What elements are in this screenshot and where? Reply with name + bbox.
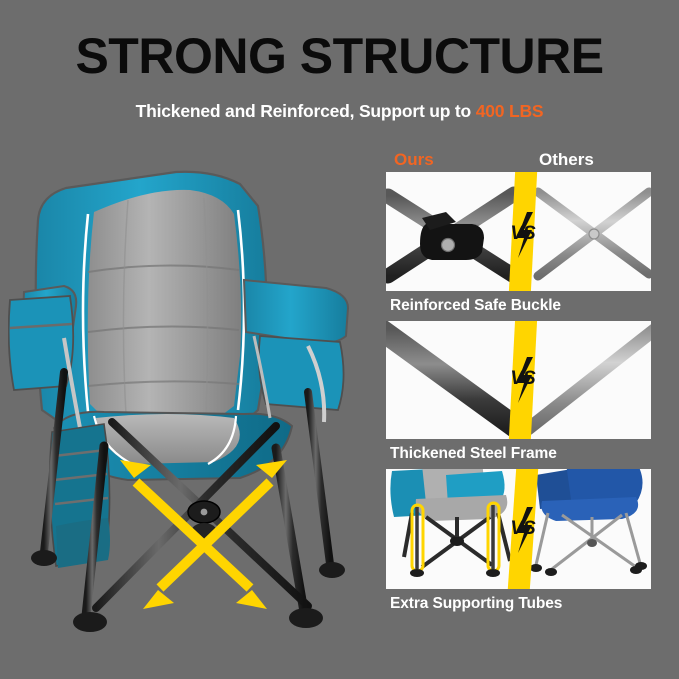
others-foot	[630, 566, 642, 574]
subtitle-highlight: 400 LBS	[476, 101, 544, 121]
panel-caption-tubes: Extra Supporting Tubes	[386, 589, 651, 619]
others-rivet	[589, 229, 599, 239]
arm-side-panel-right	[259, 336, 344, 410]
vs-label: VS	[510, 223, 536, 244]
ours-foot	[410, 569, 424, 577]
infographic-root: STRONG STRUCTURE Thickened and Reinforce…	[0, 0, 679, 679]
buckle-rivet	[442, 239, 455, 252]
chair-foot	[289, 608, 323, 628]
others-foot	[530, 564, 542, 572]
vs-label: VS	[510, 368, 536, 389]
ours-hub	[450, 536, 464, 546]
page-subtitle: Thickened and Reinforced, Support up to …	[0, 100, 679, 122]
vs-label: VS	[510, 518, 536, 539]
mesh-pocket	[56, 518, 110, 568]
page-title: STRONG STRUCTURE	[0, 28, 679, 84]
chair-leg	[308, 392, 330, 564]
armrest-right	[244, 280, 348, 343]
hub-rivet	[201, 509, 208, 516]
others-foot	[545, 568, 557, 576]
others-chair-seat	[541, 497, 638, 521]
chair-foot	[31, 550, 57, 566]
label-others: Others	[539, 150, 594, 170]
comparison-column: Ours Others	[386, 150, 651, 650]
comparison-panel-tubes: VS	[386, 469, 651, 589]
comparison-panel-frame: VS	[386, 321, 651, 439]
chair-foot	[73, 612, 107, 632]
chair-foot	[319, 562, 345, 578]
panel-caption-buckle: Reinforced Safe Buckle	[386, 291, 651, 321]
comparison-panel-buckle: VS	[386, 172, 651, 291]
comparison-header: Ours Others	[386, 150, 651, 172]
others-hub	[587, 539, 597, 547]
product-image	[8, 160, 374, 640]
support-arrow	[120, 460, 267, 609]
label-ours: Ours	[394, 150, 434, 170]
ours-foot	[486, 569, 500, 577]
panel-caption-frame: Thickened Steel Frame	[386, 439, 651, 469]
subtitle-text: Thickened and Reinforced, Support up to	[136, 101, 476, 121]
